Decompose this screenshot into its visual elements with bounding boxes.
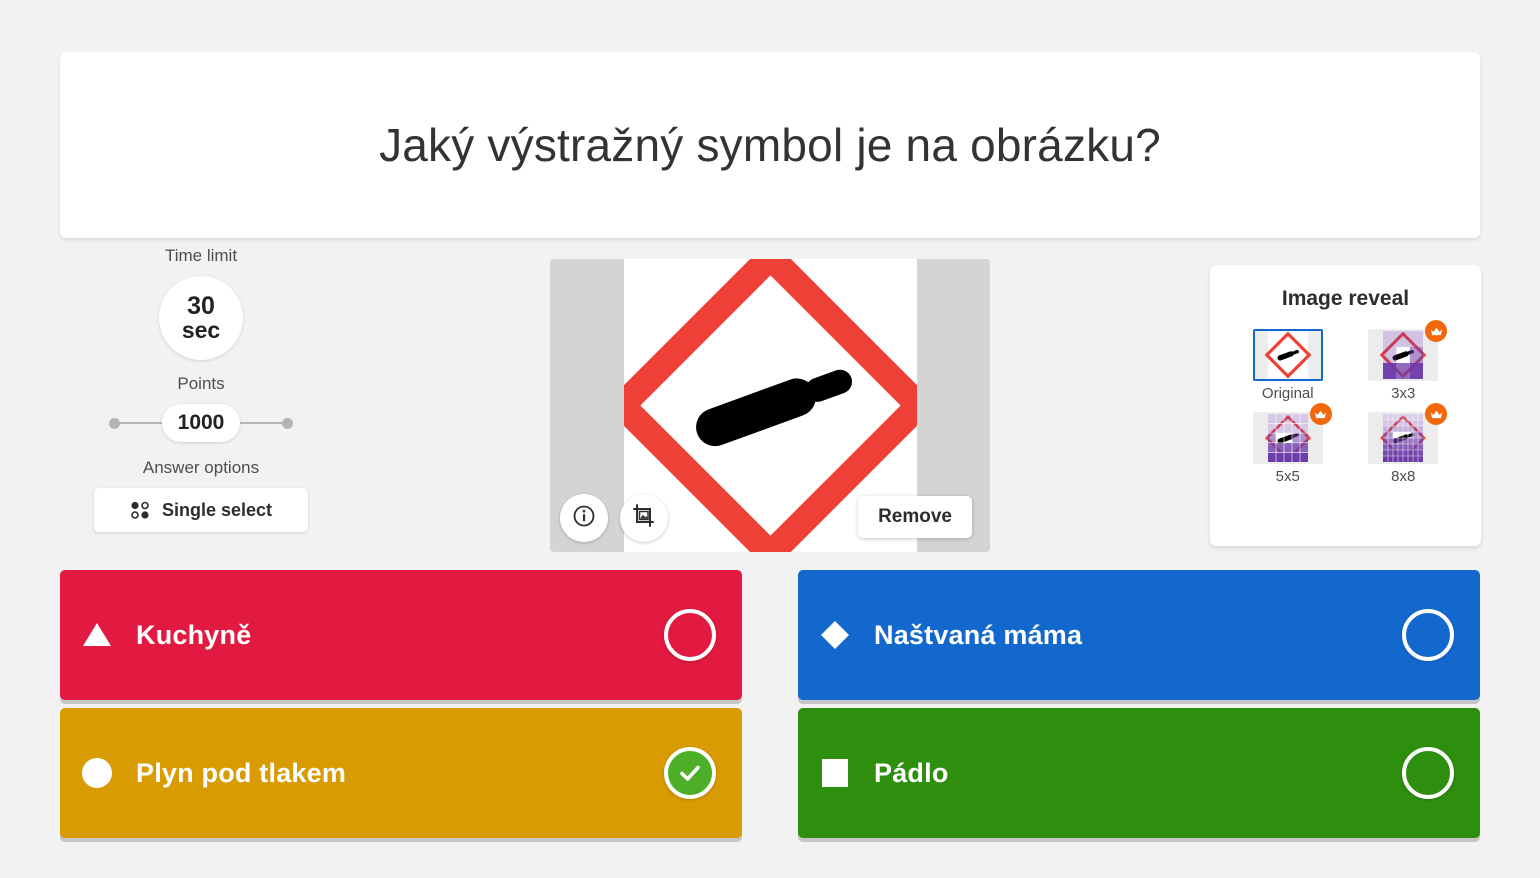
diamond-icon	[818, 618, 852, 652]
crown-icon	[1314, 409, 1327, 420]
time-limit-value: 30	[187, 294, 215, 320]
answer-label-3: Plyn pod tlakem	[136, 758, 664, 789]
premium-crown-badge	[1425, 403, 1447, 425]
points-label: Points	[60, 374, 342, 394]
answer-correct-toggle-2[interactable]	[1402, 609, 1454, 661]
answer-tile-2[interactable]: Naštvaná máma	[798, 570, 1480, 700]
answer-label-1: Kuchyně	[136, 620, 664, 651]
answer-label-2: Naštvaná máma	[874, 620, 1402, 651]
answer-options-label: Answer options	[60, 458, 342, 478]
media-info-button[interactable]	[560, 494, 608, 542]
answer-label-4: Pádlo	[874, 758, 1402, 789]
reveal-caption-3x3: 3x3	[1351, 385, 1455, 402]
reveal-option-original[interactable]: Original	[1236, 329, 1340, 402]
reveal-caption-original: Original	[1236, 385, 1340, 402]
answer-tile-1[interactable]: Kuchyně	[60, 570, 742, 700]
slider-min-dot[interactable]	[109, 418, 120, 429]
time-limit-unit: sec	[182, 319, 220, 342]
image-reveal-options: Original	[1230, 329, 1461, 485]
single-select-icon	[130, 500, 150, 520]
reveal-thumb-original	[1253, 329, 1323, 381]
reveal-caption-5x5: 5x5	[1236, 468, 1340, 485]
answer-options-value: Single select	[162, 500, 272, 521]
slider-max-dot[interactable]	[282, 418, 293, 429]
answer-tile-3[interactable]: Plyn pod tlakem	[60, 708, 742, 838]
reveal-option-5x5[interactable]: 5x5	[1236, 412, 1340, 485]
answer-tiles: Kuchyně Naštvaná máma Plyn pod tlakem	[60, 570, 1480, 838]
premium-crown-badge	[1310, 403, 1332, 425]
question-media[interactable]: Remove	[550, 259, 990, 552]
answer-tile-4[interactable]: Pádlo	[798, 708, 1480, 838]
question-editor-page: Jaký výstražný symbol je na obrázku? Tim…	[0, 0, 1540, 878]
circle-icon	[80, 756, 114, 790]
points-slider[interactable]: 1000	[60, 404, 342, 442]
crown-icon	[1430, 409, 1443, 420]
reveal-option-3x3[interactable]: 3x3	[1351, 329, 1455, 402]
reveal-option-8x8[interactable]: 8x8	[1351, 412, 1455, 485]
check-icon	[675, 758, 705, 788]
crown-icon	[1430, 326, 1443, 337]
image-reveal-panel: Image reveal Ori	[1210, 265, 1481, 546]
slider-track-left	[120, 422, 162, 424]
question-settings-panel: Time limit 30 sec Points 1000 Answer opt…	[60, 246, 342, 532]
time-limit-label: Time limit	[60, 246, 342, 266]
answer-options-button[interactable]: Single select	[94, 488, 308, 532]
image-reveal-title: Image reveal	[1230, 287, 1461, 311]
slider-track-right	[240, 422, 282, 424]
info-icon	[572, 504, 596, 533]
points-value-pill[interactable]: 1000	[162, 404, 240, 442]
question-title-card[interactable]: Jaký výstražný symbol je na obrázku?	[60, 52, 1480, 238]
premium-crown-badge	[1425, 320, 1447, 342]
square-icon	[818, 756, 852, 790]
answer-correct-toggle-3[interactable]	[664, 747, 716, 799]
answer-correct-toggle-4[interactable]	[1402, 747, 1454, 799]
time-limit-selector[interactable]: 30 sec	[159, 276, 243, 360]
triangle-icon	[80, 618, 114, 652]
remove-media-button[interactable]: Remove	[858, 496, 972, 538]
crop-image-icon	[631, 503, 657, 534]
media-crop-button[interactable]	[620, 494, 668, 542]
page-title: Jaký výstražný symbol je na obrázku?	[339, 118, 1201, 172]
reveal-caption-8x8: 8x8	[1351, 468, 1455, 485]
answer-correct-toggle-1[interactable]	[664, 609, 716, 661]
points-value: 1000	[178, 411, 225, 435]
